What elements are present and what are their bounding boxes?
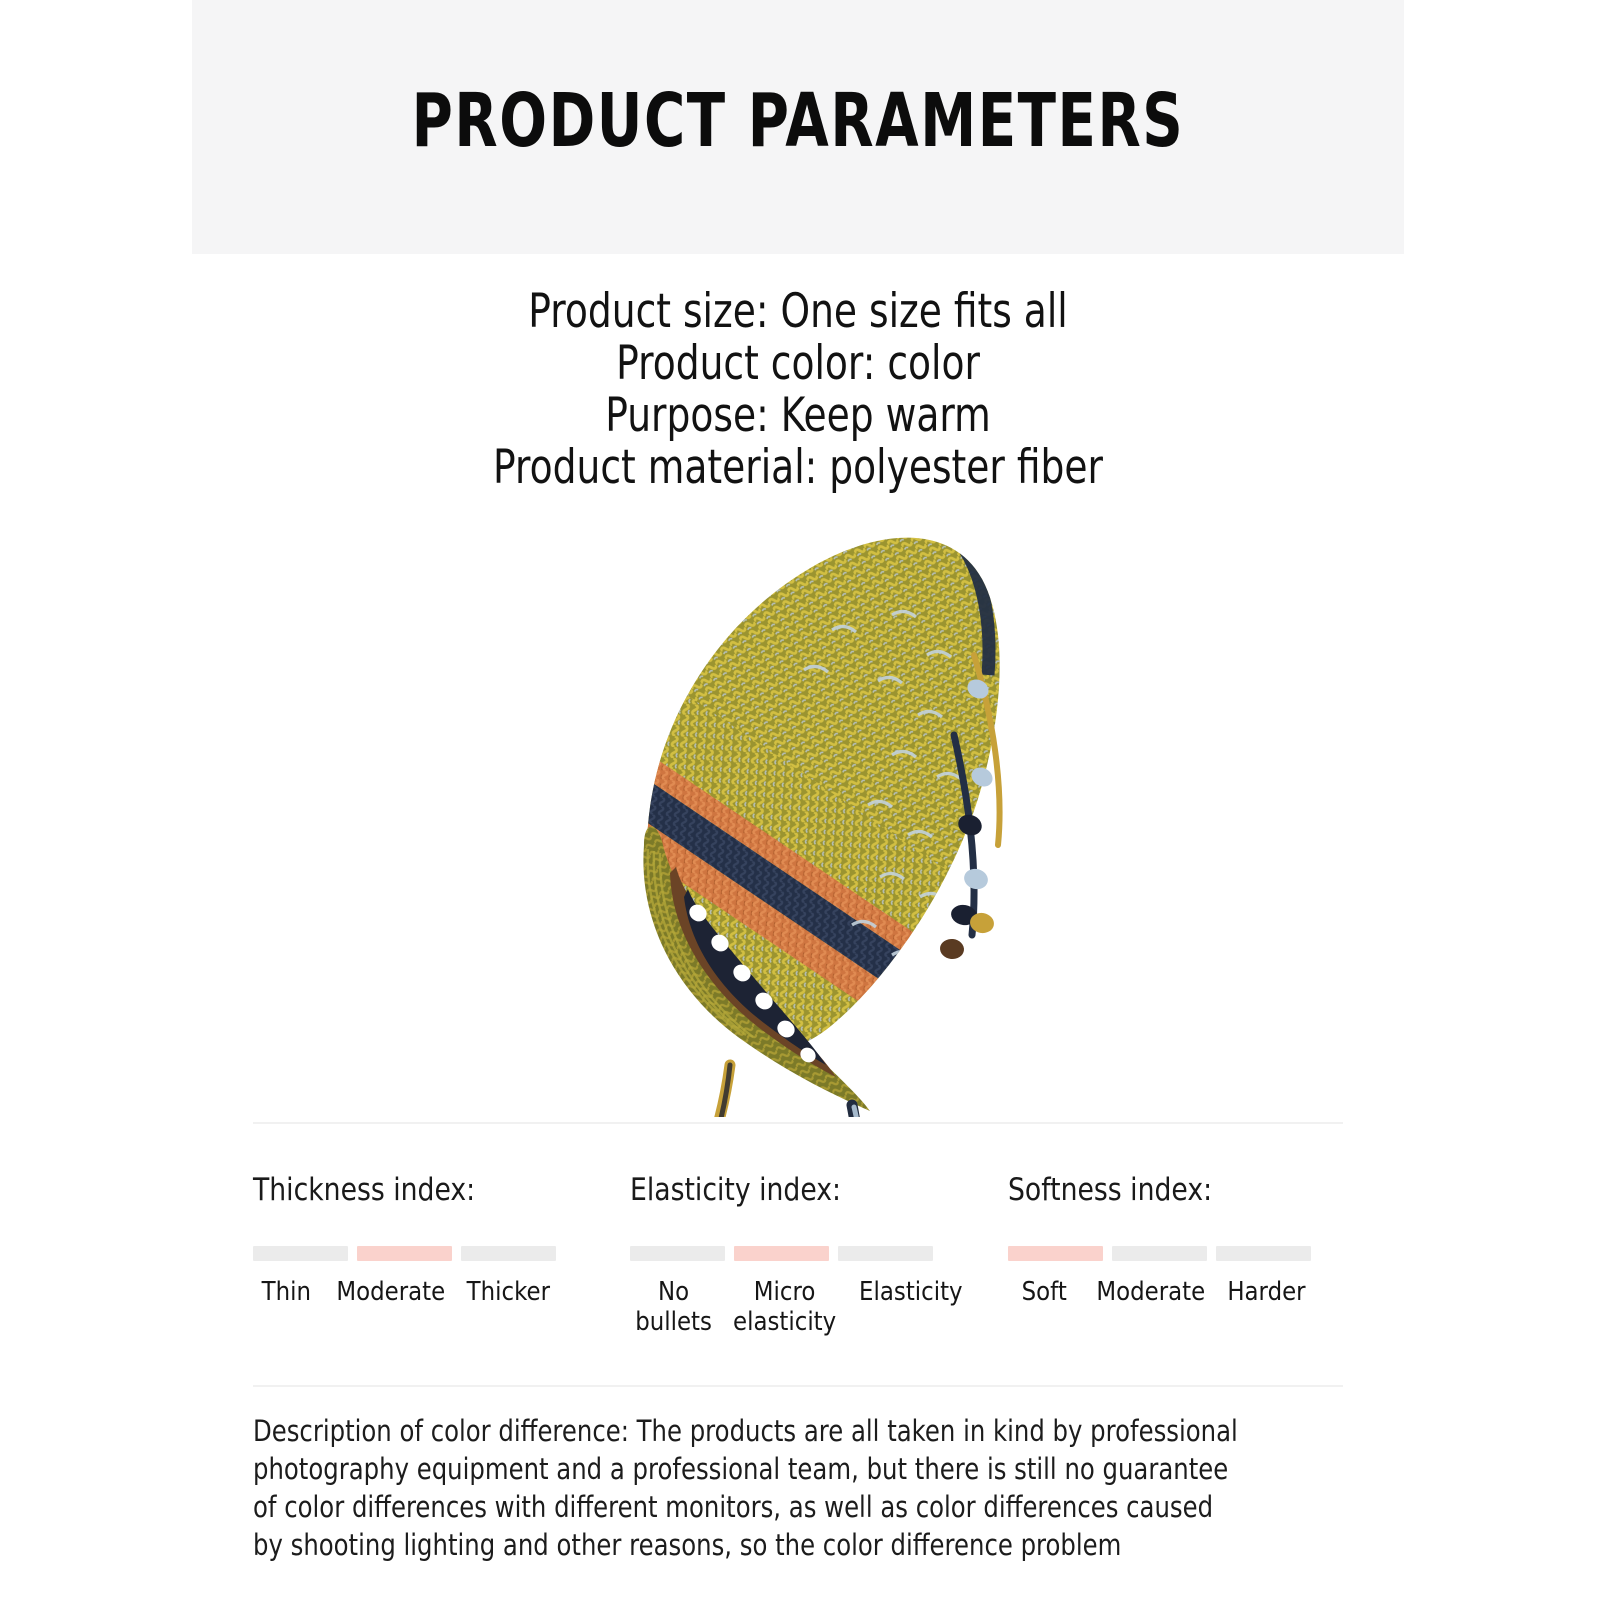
elasticity-labels: No bullets Micro elasticity Elasticity xyxy=(630,1277,933,1337)
thickness-bar-thicker[interactable] xyxy=(461,1246,556,1261)
elasticity-label-0: No bullets xyxy=(635,1277,712,1337)
divider-above-indexes xyxy=(253,1122,1343,1124)
softness-bar-moderate[interactable] xyxy=(1112,1246,1207,1261)
elasticity-bar-micro[interactable] xyxy=(734,1246,829,1261)
thickness-index-group: Thickness index: Thin Moderate Thicker xyxy=(253,1172,583,1307)
elasticity-bar-no-bullets[interactable] xyxy=(630,1246,725,1261)
softness-index-heading: Softness index: xyxy=(1008,1172,1292,1208)
softness-label-2: Harder xyxy=(1227,1277,1305,1307)
elasticity-index-group: Elasticity index: No bullets Micro elast… xyxy=(630,1172,960,1337)
page-title: PRODUCT PARAMETERS xyxy=(337,78,1258,164)
elasticity-label-1: Micro elasticity xyxy=(733,1277,836,1337)
softness-label-1: Moderate xyxy=(1097,1277,1206,1307)
spec-line-size: Product size: One size fits all xyxy=(313,286,1283,338)
thickness-label-1: Moderate xyxy=(336,1277,445,1307)
elasticity-bar-elasticity[interactable] xyxy=(838,1246,933,1261)
thickness-index-heading: Thickness index: xyxy=(253,1172,537,1208)
knit-beanie-illustration xyxy=(192,505,1404,1117)
thickness-bar-thin[interactable] xyxy=(253,1246,348,1261)
thickness-label-0: Thin xyxy=(257,1277,316,1307)
softness-bar-harder[interactable] xyxy=(1216,1246,1311,1261)
thickness-bars xyxy=(253,1246,556,1261)
softness-bars xyxy=(1008,1246,1311,1261)
thickness-bar-moderate[interactable] xyxy=(357,1246,452,1261)
elasticity-label-2: Elasticity xyxy=(859,1277,963,1337)
softness-labels: Soft Moderate Harder xyxy=(1008,1277,1311,1307)
softness-label-0: Soft xyxy=(1012,1277,1076,1307)
softness-bar-soft[interactable] xyxy=(1008,1246,1103,1261)
divider-above-description xyxy=(253,1385,1343,1387)
desc-line-3: by shooting lighting and other reasons, … xyxy=(253,1526,1202,1564)
spec-line-material: Product material: polyester fiber xyxy=(313,442,1283,494)
color-difference-description: Description of color difference: The pro… xyxy=(253,1412,1383,1564)
desc-line-2: of color differences with different moni… xyxy=(253,1488,1202,1526)
spec-line-color: Product color: color xyxy=(313,338,1283,390)
desc-line-1: photography equipment and a professional… xyxy=(253,1450,1202,1488)
spec-line-purpose: Purpose: Keep warm xyxy=(313,390,1283,442)
product-spec-list: Product size: One size fits all Product … xyxy=(192,286,1404,494)
softness-index-group: Softness index: Soft Moderate Harder xyxy=(1008,1172,1338,1307)
elasticity-index-heading: Elasticity index: xyxy=(630,1172,914,1208)
elasticity-bars xyxy=(630,1246,933,1261)
thickness-label-2: Thicker xyxy=(467,1277,550,1307)
desc-line-0: Description of color difference: The pro… xyxy=(253,1412,1202,1450)
product-photo xyxy=(192,505,1404,1117)
thickness-labels: Thin Moderate Thicker xyxy=(253,1277,556,1307)
